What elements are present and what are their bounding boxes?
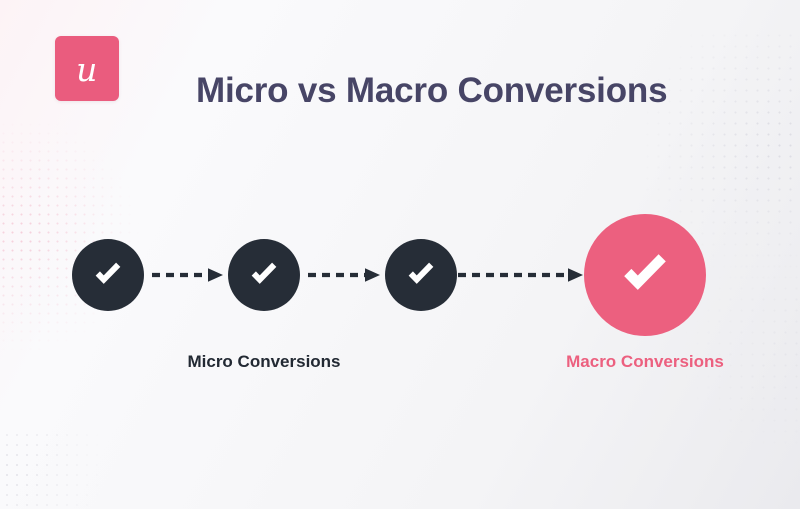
flow-arrow-3 [458,266,584,284]
macro-conversion-node [584,214,706,336]
flow-arrow-1 [152,266,224,284]
micro-conversion-node-2 [228,239,300,311]
infographic-canvas: u Micro vs Macro Conversions [0,0,800,509]
check-icon [245,256,283,294]
micro-conversions-label: Micro Conversions [187,352,340,372]
micro-conversion-node-1 [72,239,144,311]
check-icon [402,256,440,294]
macro-conversions-label: Macro Conversions [566,352,724,372]
micro-conversion-node-3 [385,239,457,311]
check-icon [613,243,677,307]
flow-arrow-2 [308,266,381,284]
check-icon [89,256,127,294]
conversion-flow-diagram: Micro Conversions Macro Conversions [0,0,800,509]
